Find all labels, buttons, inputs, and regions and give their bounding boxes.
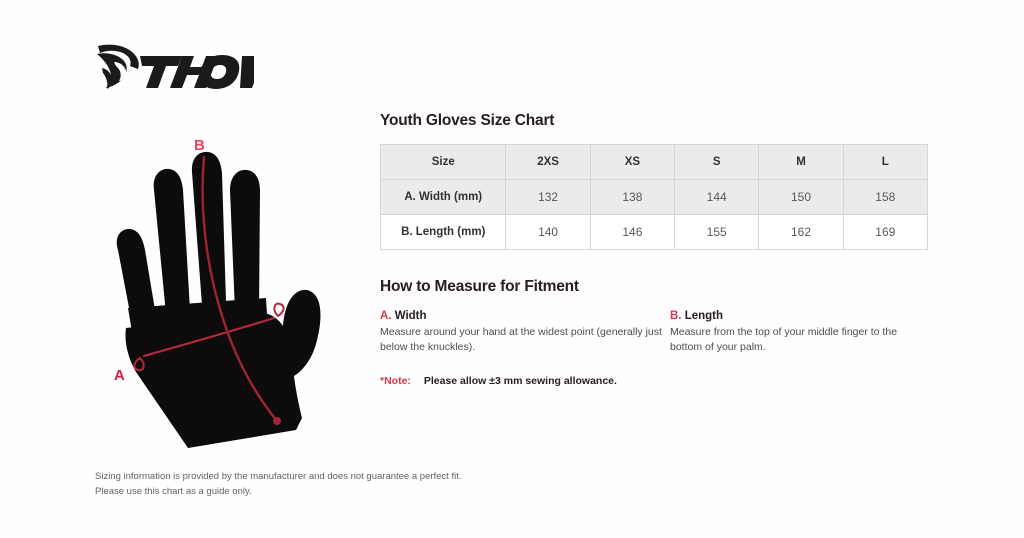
size-chart-table: Size 2XS XS S M L A. Width (mm) 132 138 … — [380, 144, 928, 250]
length-xs: 146 — [590, 215, 674, 250]
width-xs: 138 — [590, 180, 674, 215]
thor-logo — [94, 42, 254, 94]
measure-label-length: Length — [685, 310, 723, 322]
width-s: 144 — [675, 180, 759, 215]
row-label-length: B. Length (mm) — [381, 215, 506, 250]
registered-mark-icon — [248, 83, 251, 86]
width-l: 158 — [843, 180, 927, 215]
row-label-width: A. Width (mm) — [381, 180, 506, 215]
measure-label-width: Width — [395, 310, 427, 322]
glove-label-a: A — [114, 367, 125, 384]
measure-tag-b: B. — [670, 310, 682, 322]
note-tag: *Note: — [380, 375, 411, 387]
how-to-measure-section: How to Measure for Fitment A. Width Meas… — [380, 278, 930, 387]
size-chart-title: Youth Gloves Size Chart — [380, 112, 930, 130]
measure-text-length: Measure from the top of your middle fing… — [670, 325, 930, 355]
header-xs: XS — [590, 145, 674, 180]
length-2xs: 140 — [506, 215, 590, 250]
viking-helmet-icon — [97, 45, 139, 89]
measure-col-width: A. Width Measure around your hand at the… — [380, 310, 670, 355]
measure-col-length: B. Length Measure from the top of your m… — [670, 310, 930, 355]
footer-line-2: Please use this chart as a guide only. — [95, 485, 462, 500]
measure-head-width: A. Width — [380, 310, 664, 322]
header-m: M — [759, 145, 843, 180]
length-s: 155 — [675, 215, 759, 250]
length-l: 169 — [843, 215, 927, 250]
thor-wordmark — [140, 55, 254, 89]
measure-text-width: Measure around your hand at the widest p… — [380, 325, 664, 355]
table-row-length: B. Length (mm) 140 146 155 162 169 — [381, 215, 928, 250]
length-m: 162 — [759, 215, 843, 250]
width-m: 150 — [759, 180, 843, 215]
width-2xs: 132 — [506, 180, 590, 215]
header-2xs: 2XS — [506, 145, 590, 180]
thor-logo-svg — [94, 42, 254, 94]
content-column: Youth Gloves Size Chart Size 2XS XS S M … — [380, 112, 930, 387]
how-to-measure-title: How to Measure for Fitment — [380, 278, 930, 296]
measure-tag-a: A. — [380, 310, 392, 322]
measure-columns: A. Width Measure around your hand at the… — [380, 310, 930, 355]
table-header-row: Size 2XS XS S M L — [381, 145, 928, 180]
header-size: Size — [381, 145, 506, 180]
glove-silhouette-icon — [117, 152, 321, 448]
measure-head-length: B. Length — [670, 310, 930, 322]
size-chart-page: B A Youth Gloves Size Chart Size 2XS XS … — [0, 0, 1024, 538]
sewing-allowance-note: *Note: Please allow ±3 mm sewing allowan… — [380, 375, 930, 387]
footer-line-1: Sizing information is provided by the ma… — [95, 470, 462, 485]
note-text: Please allow ±3 mm sewing allowance. — [424, 375, 617, 387]
glove-label-b: B — [194, 137, 205, 154]
glove-diagram-svg: B A — [96, 132, 356, 452]
measure-b-endpoint — [273, 417, 281, 425]
table-row-width: A. Width (mm) 132 138 144 150 158 — [381, 180, 928, 215]
glove-illustration: B A — [96, 132, 356, 452]
footer-disclaimer: Sizing information is provided by the ma… — [95, 470, 462, 499]
header-l: L — [843, 145, 927, 180]
header-s: S — [675, 145, 759, 180]
